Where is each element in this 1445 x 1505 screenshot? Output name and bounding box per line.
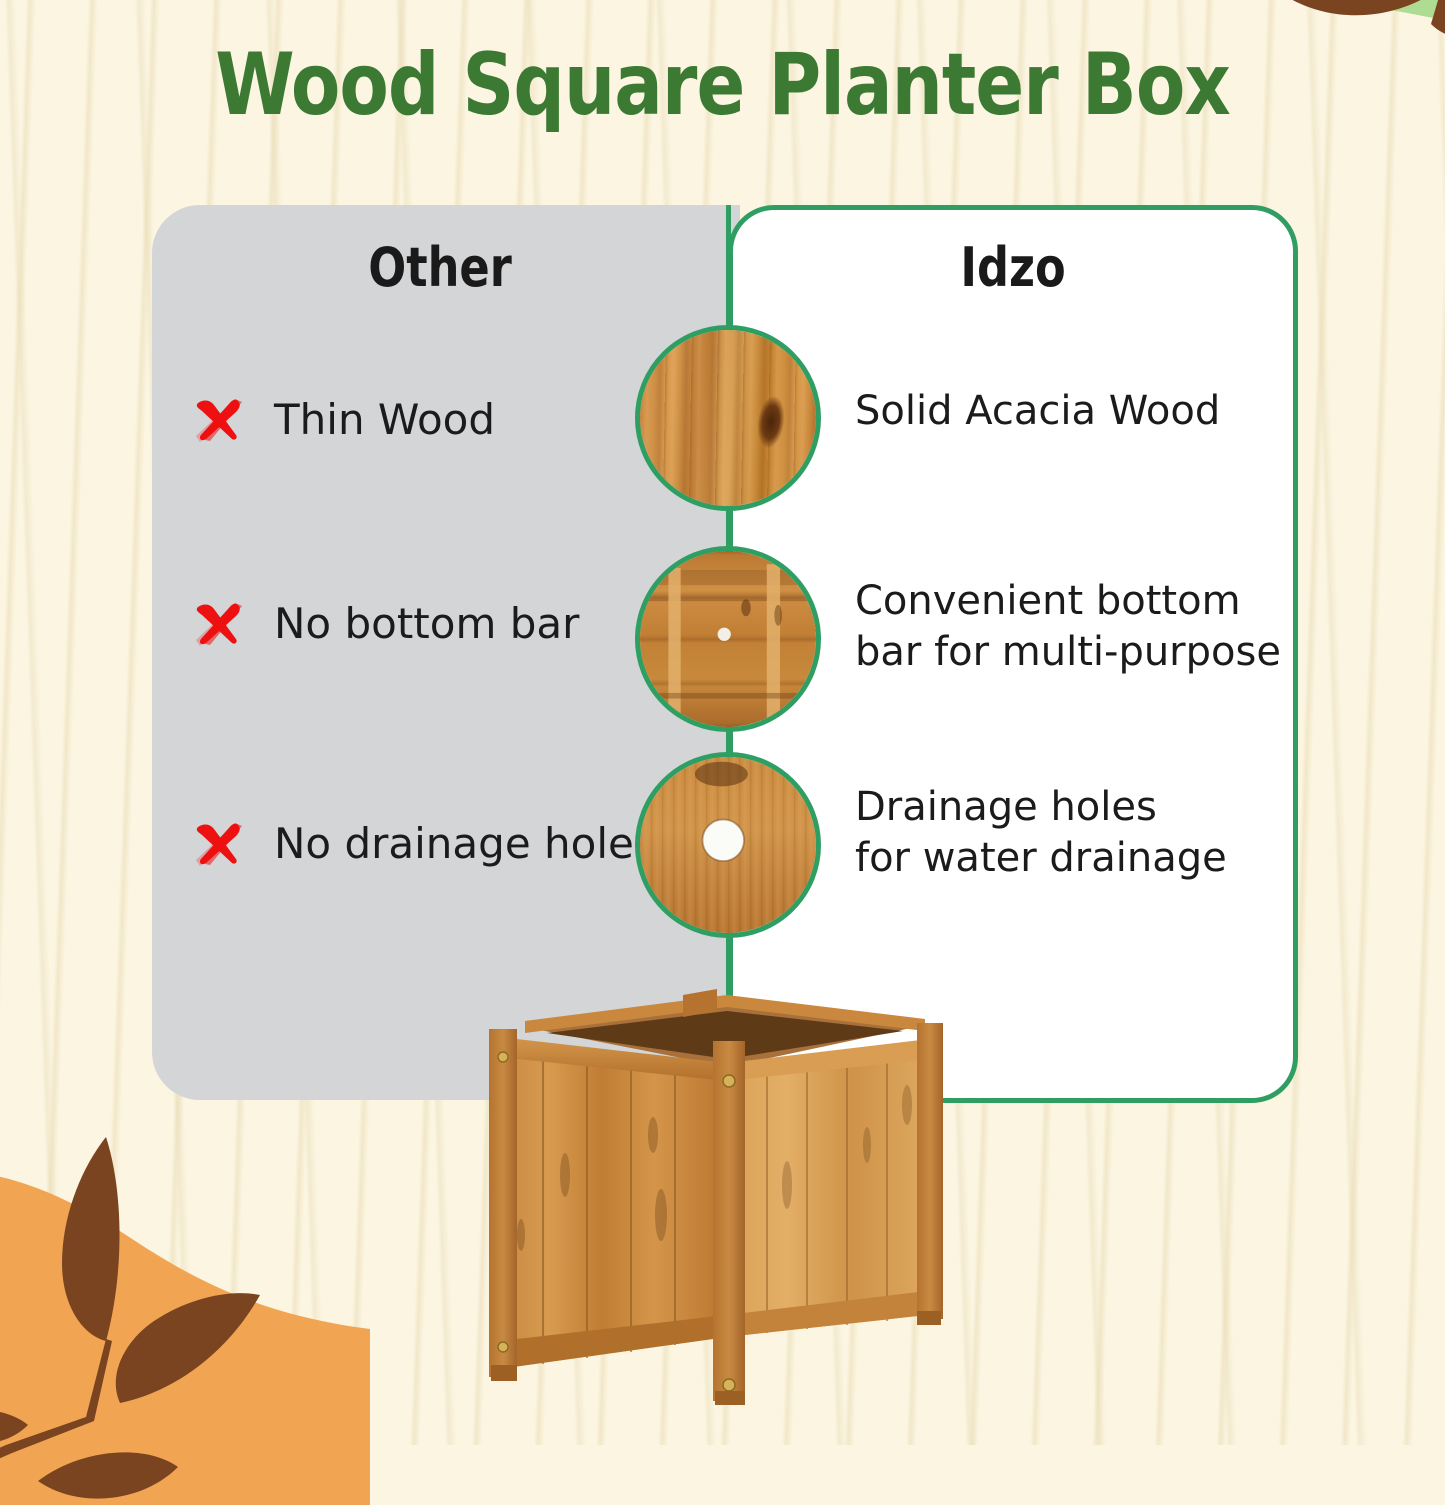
bottom-bar-slats: [640, 551, 816, 727]
bottom-left-decoration: [0, 1085, 370, 1505]
other-row-2: No bottom bar: [190, 588, 660, 658]
idzo-row-3: Drainage holes for water drainage: [855, 782, 1295, 884]
idzo-row-2-line-2: bar for multi-purpose: [855, 627, 1295, 678]
other-row-3: No drainage hole: [190, 808, 660, 878]
other-row-1-label: Thin Wood: [274, 395, 495, 444]
detail-circle-acacia-wood: [635, 325, 821, 511]
detail-circle-bottom-bar: [635, 546, 821, 732]
panel-other-header: Other: [175, 236, 705, 299]
other-row-1: Thin Wood: [190, 384, 660, 454]
other-row-3-label: No drainage hole: [274, 819, 634, 868]
idzo-row-1-line-1: Solid Acacia Wood: [855, 386, 1295, 437]
drainage-hole-shape: [640, 757, 816, 933]
red-x-icon: [190, 815, 246, 871]
product-photo-planter-box: [455, 985, 965, 1405]
panel-idzo-header: Idzo: [751, 236, 1275, 299]
detail-circle-drainage-hole: [635, 752, 821, 938]
page-title: Wood Square Planter Box: [51, 42, 1395, 128]
red-x-icon: [190, 595, 246, 651]
wood-grain-texture: [640, 330, 816, 506]
idzo-row-2-line-1: Convenient bottom: [855, 576, 1295, 627]
idzo-row-1: Solid Acacia Wood: [855, 386, 1295, 437]
planter-front-right-panel: [727, 1045, 927, 1337]
idzo-row-3-line-2: for water drainage: [855, 833, 1295, 884]
idzo-row-3-line-1: Drainage holes: [855, 782, 1295, 833]
red-x-icon: [190, 391, 246, 447]
idzo-row-2: Convenient bottom bar for multi-purpose: [855, 576, 1295, 678]
other-row-2-label: No bottom bar: [274, 599, 579, 648]
